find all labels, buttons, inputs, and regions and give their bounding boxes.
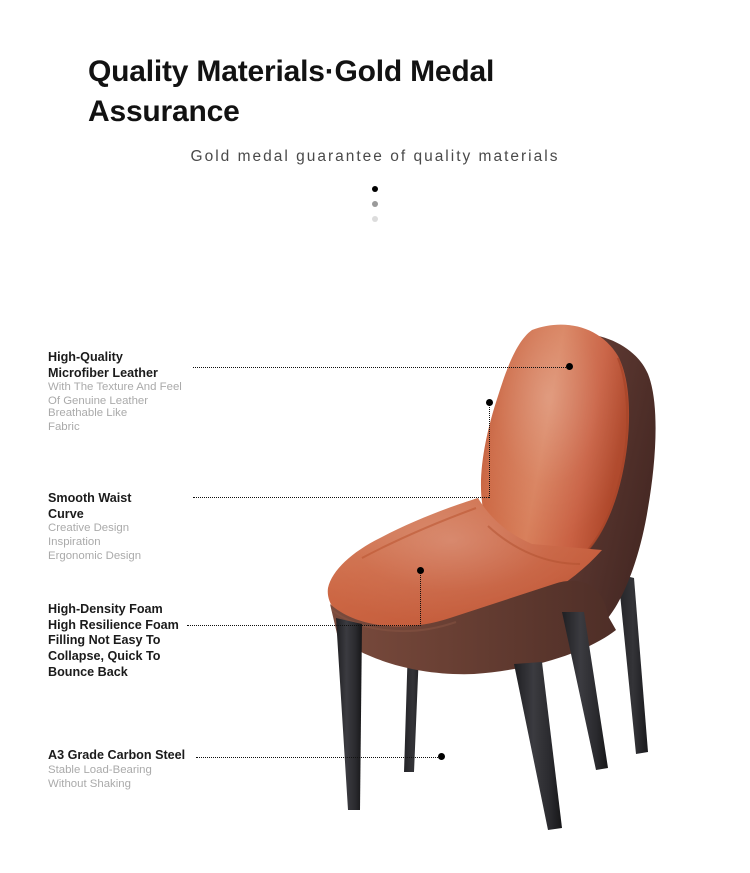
annotation-caption: Stable Load-Bearing Without Shaking: [48, 764, 238, 792]
chair-leg-front-right: [514, 662, 562, 830]
annotation-title: Smooth Waist Curve: [48, 491, 223, 522]
annotation-waist-curve: Smooth Waist Curve Creative Design Inspi…: [48, 491, 223, 564]
leader-dot-foam: [417, 567, 424, 574]
leader-dot-microfiber-leather: [566, 363, 573, 370]
dot-indicator-group: [0, 186, 750, 222]
leader-line-foam-vertical: [420, 571, 421, 626]
annotation-carbon-steel: A3 Grade Carbon Steel Stable Load-Bearin…: [48, 748, 238, 792]
dot-faint-icon: [372, 216, 378, 222]
product-image-dining-chair: [318, 312, 718, 832]
leader-dot-waist-curve: [486, 399, 493, 406]
page-subtitle: Gold medal guarantee of quality material…: [0, 148, 750, 166]
dot-active-icon: [372, 186, 378, 192]
chair-leg-rear-right: [618, 574, 648, 754]
leader-line-microfiber-leather: [193, 367, 570, 368]
annotation-caption: With The Texture And Feel Of Genuine Lea…: [48, 381, 223, 409]
leader-line-waist-curve-horizontal: [193, 497, 489, 498]
annotation-title: High-Density Foam: [48, 602, 233, 618]
leader-dot-carbon-steel: [438, 753, 445, 760]
annotation-high-density-foam: High-Density Foam High Resilience Foam F…: [48, 602, 233, 681]
annotation-title: A3 Grade Carbon Steel: [48, 748, 238, 764]
annotation-title: High-Quality Microfiber Leather: [48, 350, 223, 381]
annotation-caption: High Resilience Foam Filling Not Easy To…: [48, 618, 233, 681]
annotation-caption: Creative Design Inspiration Ergonomic De…: [48, 522, 223, 564]
annotation-caption-secondary: Breathable Like Fabric: [48, 407, 127, 435]
page-title: Quality Materials·Gold Medal Assurance: [88, 52, 568, 131]
product-feature-page: Quality Materials·Gold Medal Assurance G…: [0, 0, 750, 873]
chair-leg-front-left: [336, 618, 362, 810]
dot-mid-icon: [372, 201, 378, 207]
leader-line-waist-curve-vertical: [489, 403, 490, 498]
annotation-microfiber-leather: High-Quality Microfiber Leather With The…: [48, 350, 223, 409]
